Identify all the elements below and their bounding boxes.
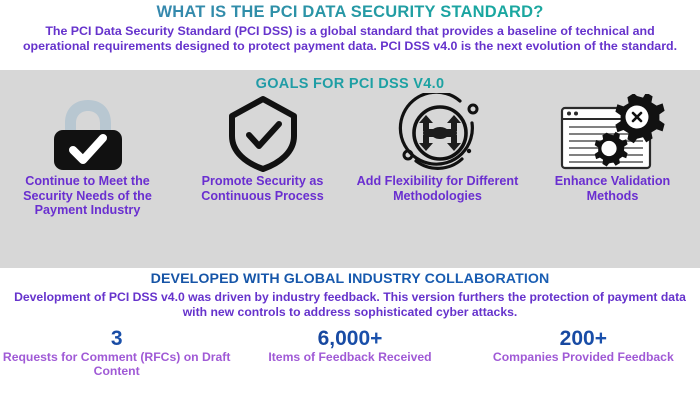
stat-label: Companies Provided Feedback bbox=[493, 350, 674, 364]
goal-item-promote-security-continuous[interactable]: Promote Security as Continuous Process bbox=[175, 94, 350, 218]
stat-rfcs: 3 Requests for Comment (RFCs) on Draft C… bbox=[0, 327, 233, 379]
stat-feedback-items: 6,000+ Items of Feedback Received bbox=[233, 327, 466, 379]
padlock-check-icon bbox=[4, 94, 171, 172]
goals-section: GOALS FOR PCI DSS V4.0 Continue to Meet … bbox=[0, 70, 700, 268]
goal-label: Continue to Meet the Security Needs of t… bbox=[4, 174, 171, 218]
intro-paragraph: The PCI Data Security Standard (PCI DSS)… bbox=[8, 24, 692, 54]
shield-check-icon bbox=[179, 94, 346, 172]
stat-number: 3 bbox=[111, 327, 123, 350]
goal-label: Enhance Validation Methods bbox=[529, 174, 696, 203]
goal-label: Add Flexibility for Different Methodolog… bbox=[354, 174, 521, 203]
collaboration-section: DEVELOPED WITH GLOBAL INDUSTRY COLLABORA… bbox=[0, 268, 700, 400]
intro-section: WHAT IS THE PCI DATA SECURITY STANDARD? … bbox=[0, 0, 700, 70]
goals-section-title: GOALS FOR PCI DSS V4.0 bbox=[0, 70, 700, 92]
stat-label: Requests for Comment (RFCs) on Draft Con… bbox=[0, 350, 233, 379]
goals-row: Continue to Meet the Security Needs of t… bbox=[0, 94, 700, 218]
goal-item-continue-to-meet-security-needs[interactable]: Continue to Meet the Security Needs of t… bbox=[0, 94, 175, 218]
goal-item-enhance-validation[interactable]: Enhance Validation Methods bbox=[525, 94, 700, 218]
stat-label: Items of Feedback Received bbox=[268, 350, 431, 364]
stat-companies: 200+ Companies Provided Feedback bbox=[467, 327, 700, 379]
goal-label: Promote Security as Continuous Process bbox=[179, 174, 346, 203]
stats-row: 3 Requests for Comment (RFCs) on Draft C… bbox=[0, 327, 700, 379]
flexibility-arrows-circle-icon bbox=[354, 94, 521, 172]
collaboration-title: DEVELOPED WITH GLOBAL INDUSTRY COLLABORA… bbox=[0, 268, 700, 287]
browser-gears-icon bbox=[529, 94, 696, 172]
collaboration-paragraph: Development of PCI DSS v4.0 was driven b… bbox=[0, 290, 700, 320]
stat-number: 200+ bbox=[560, 327, 607, 350]
page-title: WHAT IS THE PCI DATA SECURITY STANDARD? bbox=[8, 3, 692, 22]
stat-number: 6,000+ bbox=[318, 327, 383, 350]
goal-item-add-flexibility[interactable]: Add Flexibility for Different Methodolog… bbox=[350, 94, 525, 218]
